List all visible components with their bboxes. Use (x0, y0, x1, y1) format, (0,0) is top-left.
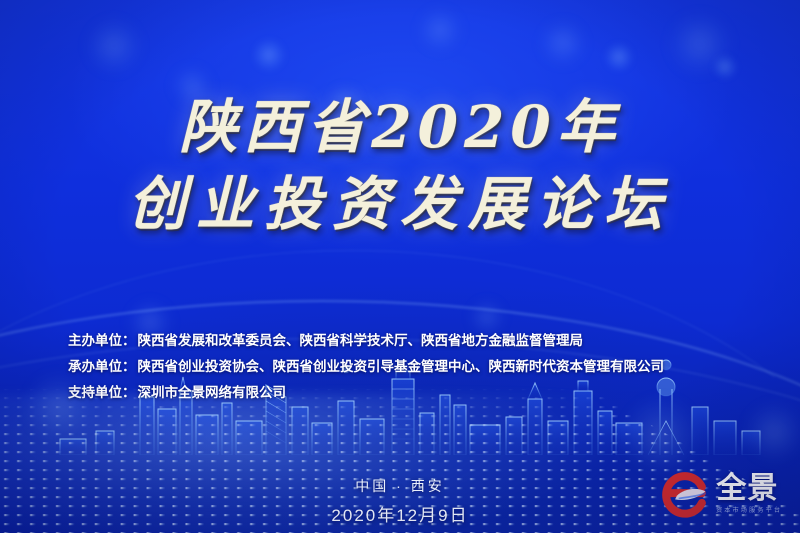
organizer-row-host: 主办单位：陕西省发展和改革委员会、陕西省科学技术厅、陕西省地方金融监督管理局 (68, 328, 768, 354)
bokeh-glow (744, 402, 800, 462)
bokeh-glow (252, 38, 286, 72)
event-title-line-2: 创业投资发展论坛 (0, 173, 800, 236)
vignette-overlay (0, 0, 800, 533)
bokeh-glow (604, 42, 634, 72)
sponsor-logo-text: 全景 资本市场服务平台 (716, 474, 786, 515)
bokeh-glow (622, 396, 700, 474)
bokeh-glow (418, 8, 462, 52)
event-backdrop-poster: 陕西省2020年 创业投资发展论坛 主办单位：陕西省发展和改革委员会、陕西省科学… (0, 0, 800, 533)
organizer-label-supporter: 支持单位： (68, 385, 136, 400)
quanjing-e-icon (657, 469, 711, 519)
bokeh-glow (86, 18, 142, 74)
event-title: 陕西省2020年 创业投资发展论坛 (0, 96, 800, 235)
bokeh-glow (540, 20, 586, 66)
bokeh-glow (668, 12, 732, 76)
organizer-value-coorganizer: 陕西省创业投资协会、陕西省创业投资引导基金管理中心、陕西新时代资本管理有限公司 (138, 359, 665, 374)
organizer-list: 主办单位：陕西省发展和改革委员会、陕西省科学技术厅、陕西省地方金融监督管理局 承… (68, 328, 768, 406)
sponsor-logo-subtitle: 资本市场服务平台 (716, 508, 782, 514)
bokeh-glow (330, 86, 360, 116)
organizer-label-coorganizer: 承办单位： (68, 359, 136, 374)
organizer-value-supporter: 深圳市全景网络有限公司 (138, 385, 287, 400)
sponsor-logo-name: 全景 (716, 474, 786, 504)
event-title-line-1: 陕西省2020年 (0, 96, 800, 159)
organizer-label-host: 主办单位： (68, 333, 136, 348)
organizer-value-host: 陕西省发展和改革委员会、陕西省科学技术厅、陕西省地方金融监督管理局 (138, 333, 584, 348)
organizer-row-supporter: 支持单位：深圳市全景网络有限公司 (68, 380, 768, 406)
organizer-row-coorganizer: 承办单位：陕西省创业投资协会、陕西省创业投资引导基金管理中心、陕西新时代资本管理… (68, 354, 768, 380)
bokeh-glow (712, 54, 738, 80)
bokeh-glow (172, 66, 212, 106)
sponsor-logo: 全景 资本市场服务平台 (657, 469, 786, 519)
